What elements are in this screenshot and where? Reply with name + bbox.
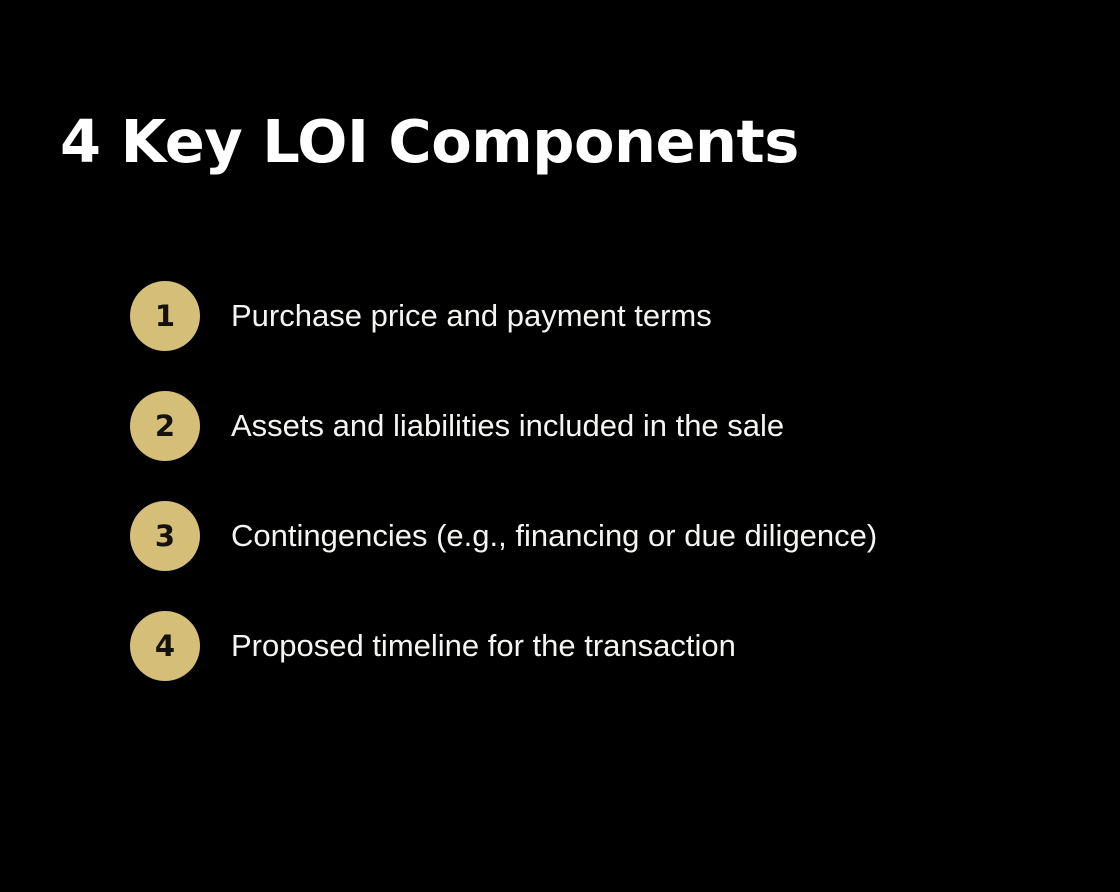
number-badge: 3 [130, 501, 200, 571]
badge-number-label: 3 [155, 522, 175, 551]
page-title: 4 Key LOI Components [60, 108, 799, 176]
number-badge: 1 [130, 281, 200, 351]
list-item-label: Purchase price and payment terms [231, 297, 712, 334]
list-item: 1 Purchase price and payment terms [130, 281, 1070, 351]
list-item: 2 Assets and liabilities included in the… [130, 391, 1070, 461]
list-item-label: Assets and liabilities included in the s… [231, 407, 784, 444]
badge-number-label: 1 [155, 302, 175, 331]
list-item-label: Proposed timeline for the transaction [231, 627, 736, 664]
badge-number-label: 4 [155, 632, 175, 661]
presentation-slide: 4 Key LOI Components 1 Purchase price an… [0, 0, 1120, 892]
components-list: 1 Purchase price and payment terms 2 Ass… [130, 281, 1070, 681]
list-item: 3 Contingencies (e.g., financing or due … [130, 501, 1070, 571]
list-item: 4 Proposed timeline for the transaction [130, 611, 1070, 681]
number-badge: 2 [130, 391, 200, 461]
list-item-label: Contingencies (e.g., financing or due di… [231, 517, 877, 554]
badge-number-label: 2 [155, 412, 175, 441]
number-badge: 4 [130, 611, 200, 681]
